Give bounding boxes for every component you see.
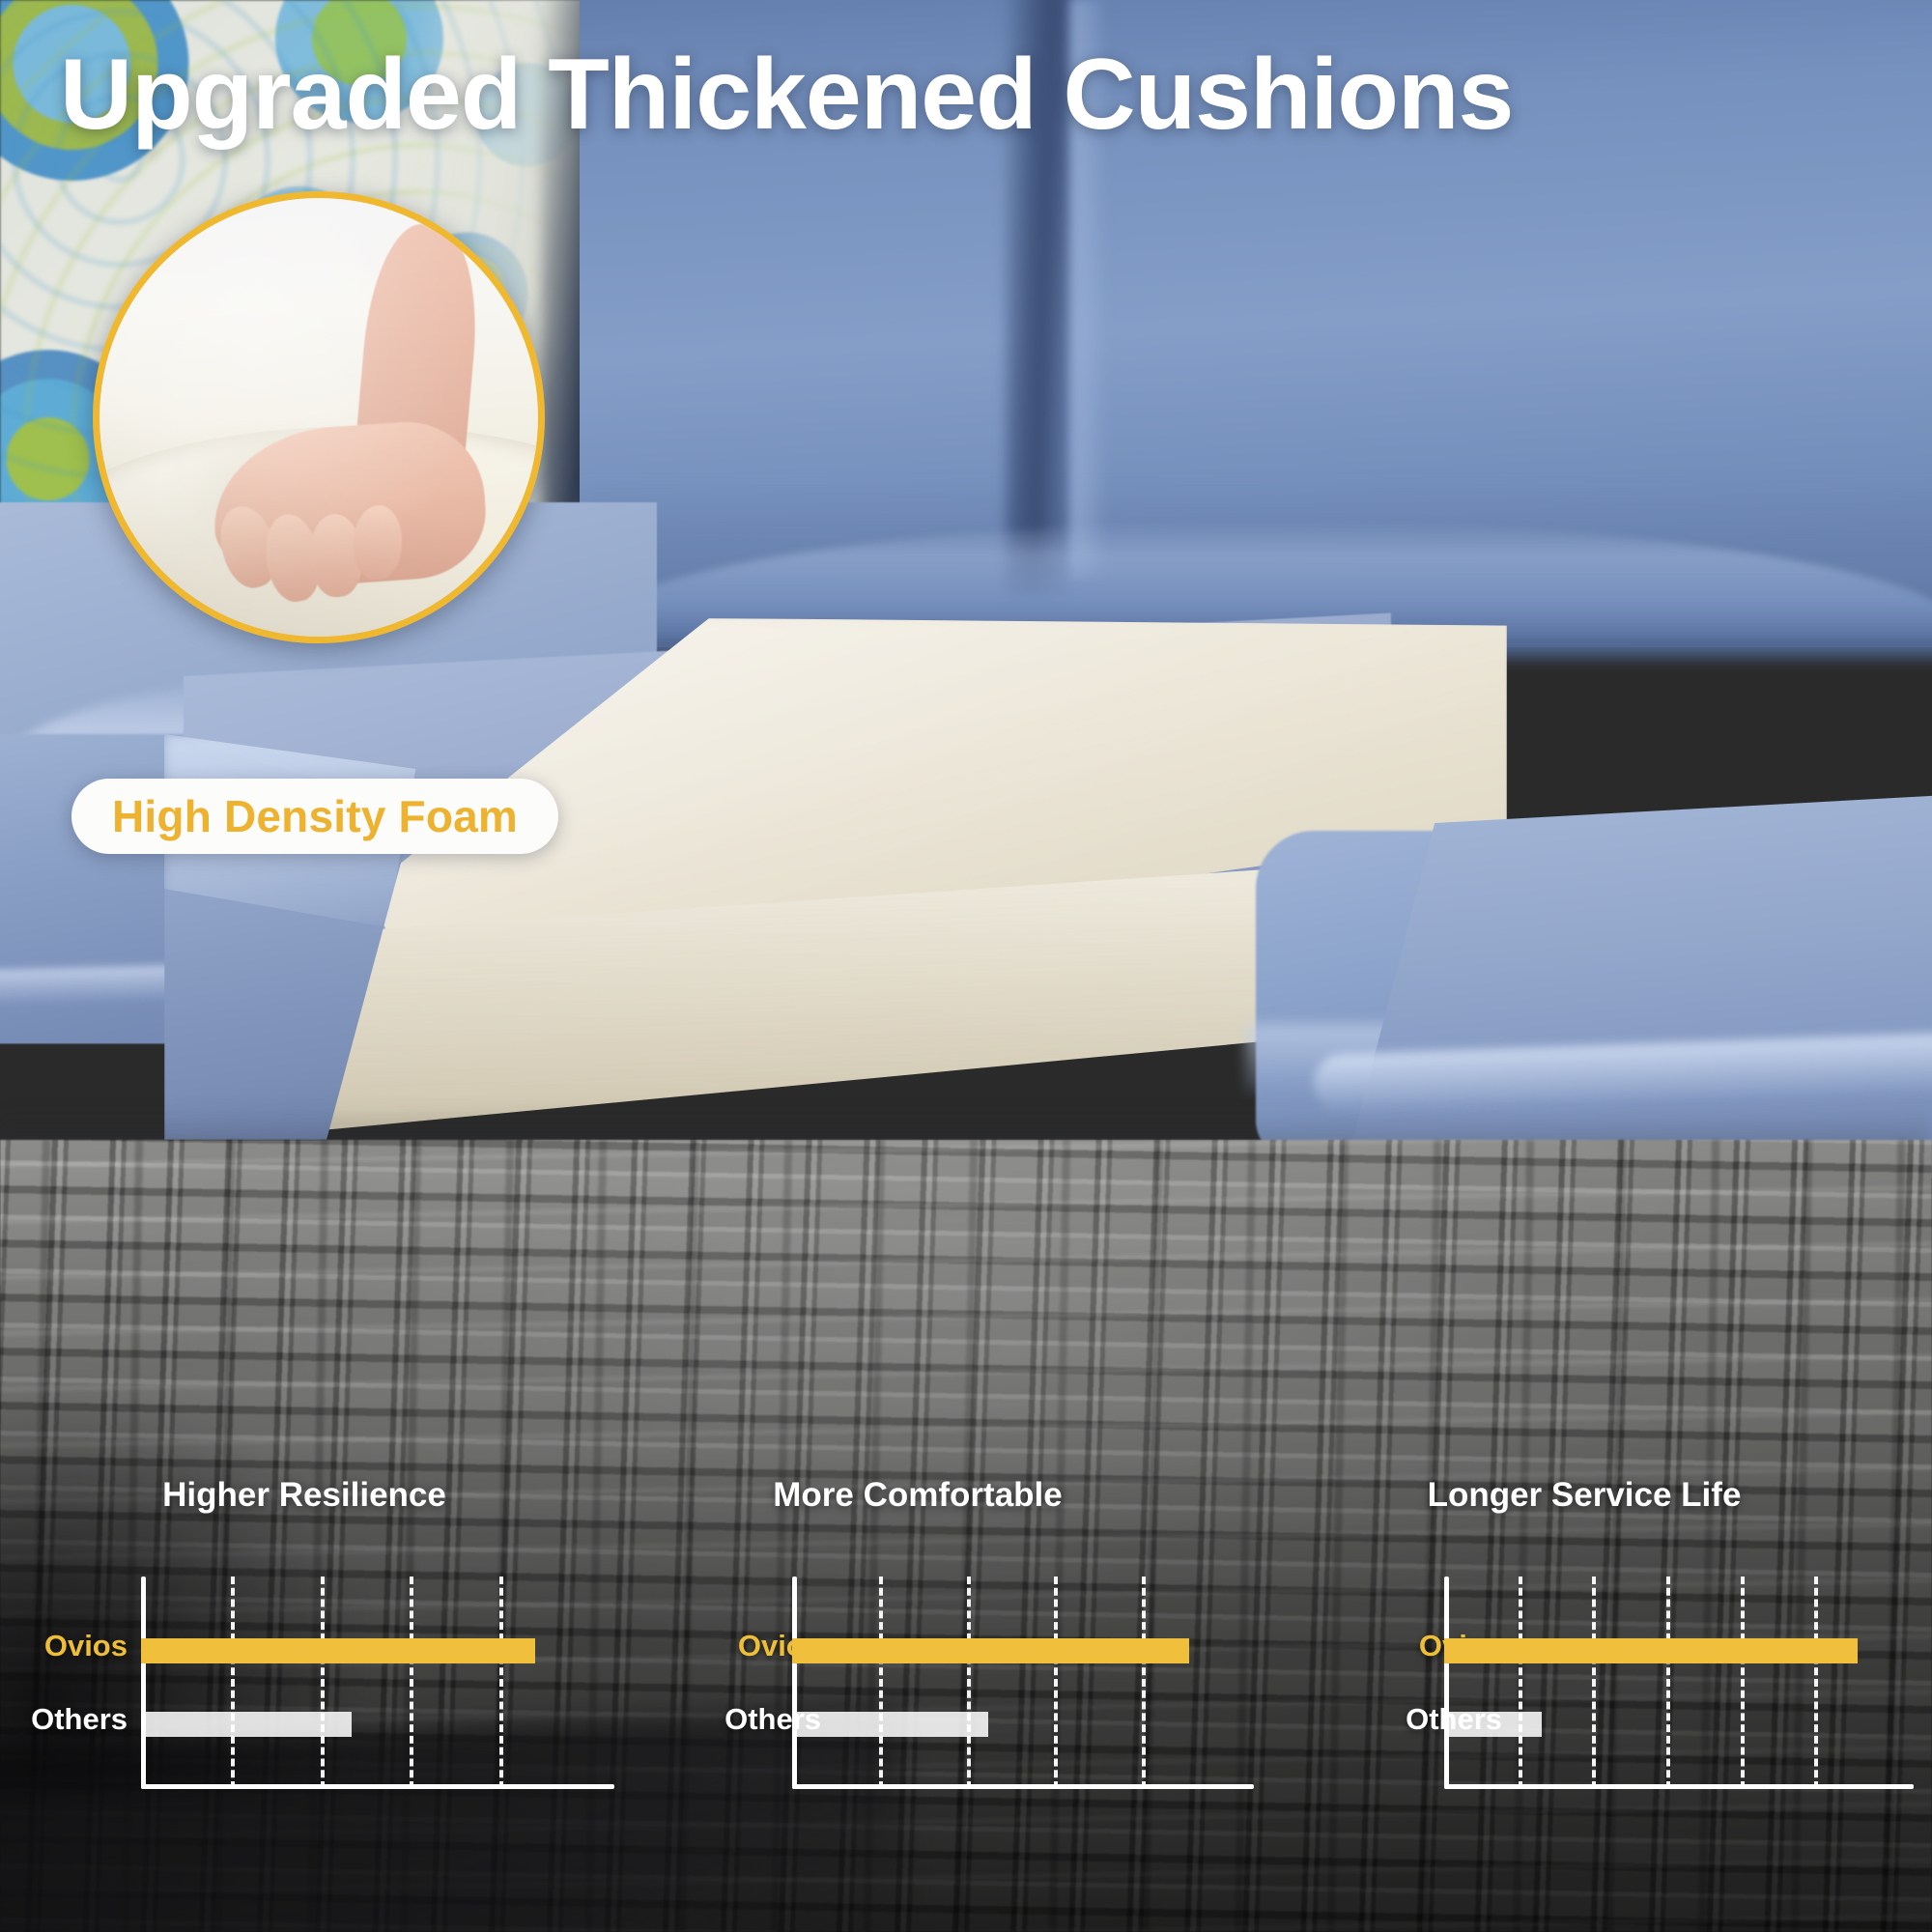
inset-shading — [99, 198, 538, 637]
product-infographic: Upgraded Thickened Cushions High Density… — [0, 0, 1932, 1932]
chart-bar-others — [792, 1712, 988, 1737]
chart-plot-area — [1444, 1577, 1889, 1789]
chart-title: Longer Service Life — [1256, 1476, 1913, 1515]
foam-press-inset — [93, 191, 545, 643]
chart-bar-ovios — [141, 1638, 535, 1663]
chart-gridline — [967, 1577, 971, 1789]
comparison-chart: Higher ResilienceOviosOthers — [19, 1476, 589, 1862]
chart-gridline — [1814, 1577, 1818, 1789]
comparison-chart: Longer Service LifeOviosOthers — [1256, 1476, 1913, 1862]
chart-title: More Comfortable — [599, 1476, 1236, 1515]
chart-bar-others — [1444, 1712, 1542, 1737]
chart-gridline — [1741, 1577, 1745, 1789]
chart-gridline — [1519, 1577, 1522, 1789]
chart-y-axis — [1444, 1577, 1449, 1789]
comparison-charts: Higher ResilienceOviosOthersMore Comfort… — [0, 1476, 1932, 1862]
chart-gridline — [1592, 1577, 1596, 1789]
chart-plot-area — [792, 1577, 1229, 1789]
chart-y-axis — [792, 1577, 797, 1789]
page-title: Upgraded Thickened Cushions — [60, 43, 1876, 148]
chart-title: Higher Resilience — [19, 1476, 589, 1515]
high-density-foam-badge: High Density Foam — [71, 779, 558, 854]
chart-x-axis — [792, 1784, 1254, 1789]
chart-gridline — [321, 1577, 325, 1789]
chart-x-axis — [141, 1784, 614, 1789]
chart-gridline — [1666, 1577, 1670, 1789]
badge-label: High Density Foam — [112, 790, 518, 842]
chart-gridline — [879, 1577, 883, 1789]
chart-gridline — [1054, 1577, 1058, 1789]
chart-category-label-others: Others — [31, 1702, 128, 1737]
chart-category-label-ovios: Ovios — [44, 1629, 128, 1663]
chart-y-axis — [141, 1577, 146, 1789]
chart-bar-others — [141, 1712, 352, 1737]
chart-gridline — [499, 1577, 503, 1789]
chart-x-axis — [1444, 1784, 1914, 1789]
chart-gridline — [410, 1577, 413, 1789]
chart-plot-area — [141, 1577, 589, 1789]
chart-bar-ovios — [792, 1638, 1189, 1663]
comparison-chart: More ComfortableOviosOthers — [599, 1476, 1236, 1862]
chart-gridline — [1142, 1577, 1146, 1789]
chart-bar-ovios — [1444, 1638, 1858, 1663]
chart-gridline — [231, 1577, 235, 1789]
